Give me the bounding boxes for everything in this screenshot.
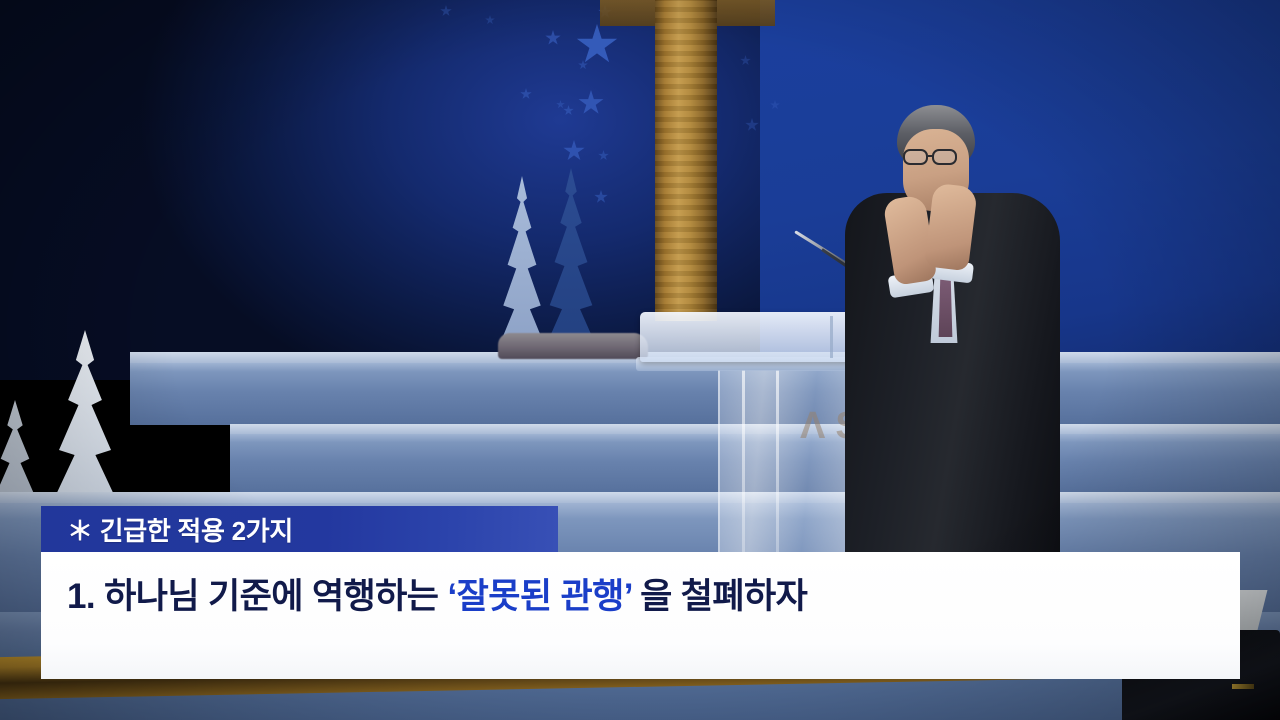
glasses-icon: [903, 149, 928, 165]
lower-third-header-bar: ＊ 긴급한 적용 2가지: [41, 506, 558, 552]
lower-third-title: 1. 하나님 기준에 역행하는 ‘잘못된 관행’ 을 철폐하자: [67, 568, 807, 619]
glasses-icon: [932, 149, 957, 165]
monitor-led-indicator: [1232, 684, 1254, 689]
lower-third-banner: ＊ 긴급한 적용 2가지 1. 하나님 기준에 역행하는 ‘잘못된 관행’ 을 …: [41, 506, 1240, 679]
title-suffix: 을 철폐하자: [632, 577, 807, 616]
lower-third-body-panel: 1. 하나님 기준에 역행하는 ‘잘못된 관행’ 을 철폐하자: [41, 552, 1240, 679]
lower-third-header-label: ＊ 긴급한 적용 2가지: [41, 511, 293, 548]
platform-upper: [130, 363, 1280, 425]
glasses-bridge: [928, 155, 934, 157]
wood-beam-vertical: [655, 0, 717, 321]
title-highlight: ‘잘못된 관행’: [448, 577, 632, 616]
draped-cloth: [498, 333, 648, 359]
video-frame: ΛS2 ＊ 긴급한 적용 2가지: [0, 0, 1280, 720]
title-prefix: 1. 하나님 기준에 역행하는: [67, 577, 448, 616]
